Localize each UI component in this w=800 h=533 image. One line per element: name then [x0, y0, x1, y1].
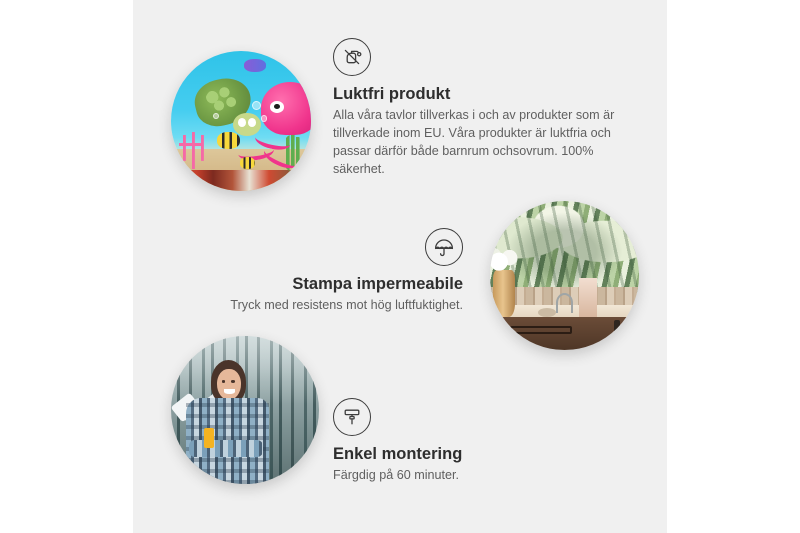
rolled-towel	[579, 278, 597, 317]
bathroom-scene	[490, 201, 639, 350]
feature-title: Stampa impermeabile	[213, 275, 463, 294]
woman-scene	[171, 336, 319, 484]
underwater-kids-scene-photo	[171, 51, 311, 191]
feature-title: Enkel montering	[333, 445, 583, 464]
feature-title: Luktfri produkt	[333, 85, 633, 104]
gold-vase	[493, 270, 515, 318]
feature-easy-mounting: Enkel montering Färgdig på 60 minuter.	[333, 398, 583, 485]
umbrella-icon	[425, 228, 463, 266]
woman-paint-roller-forest-photo	[171, 336, 319, 484]
paint-roller-icon	[333, 398, 371, 436]
faucet	[556, 293, 573, 313]
water-bubble	[213, 113, 219, 119]
woman-face	[217, 369, 241, 400]
feature-odour-free: Luktfri produkt Alla våra tavlor tillver…	[333, 38, 633, 178]
paint-roller-grip	[204, 428, 214, 449]
woman-crossed-arms	[189, 440, 263, 458]
feature-description: Alla våra tavlor tillverkas i och av pro…	[333, 107, 633, 179]
striped-fish	[240, 157, 255, 168]
feature-waterproof-print: Stampa impermeabile Tryck med resistens …	[213, 228, 463, 315]
feature-description: Färgdig på 60 minuter.	[333, 467, 583, 485]
feature-description: Tryck med resistens mot hög luftfuktighe…	[213, 297, 463, 315]
product-features-panel: Luktfri produkt Alla våra tavlor tillver…	[133, 0, 667, 533]
pink-coral	[177, 132, 213, 168]
screenshot-canvas: Luktfri produkt Alla våra tavlor tillver…	[0, 0, 800, 533]
woman-smile	[224, 389, 234, 393]
purple-fish	[244, 59, 266, 72]
pink-octopus	[261, 82, 311, 135]
no-odour-spray-bottle-icon	[333, 38, 371, 76]
ocean-illustration	[171, 51, 311, 191]
ocean-bottom-objects	[171, 170, 311, 191]
white-flowers	[490, 246, 524, 276]
octopus-eye	[270, 101, 284, 113]
bathroom-leaf-wallpaper-photo	[490, 201, 639, 350]
soap-dish	[538, 308, 556, 317]
wooden-vanity	[502, 317, 639, 350]
striped-fish	[217, 132, 239, 149]
